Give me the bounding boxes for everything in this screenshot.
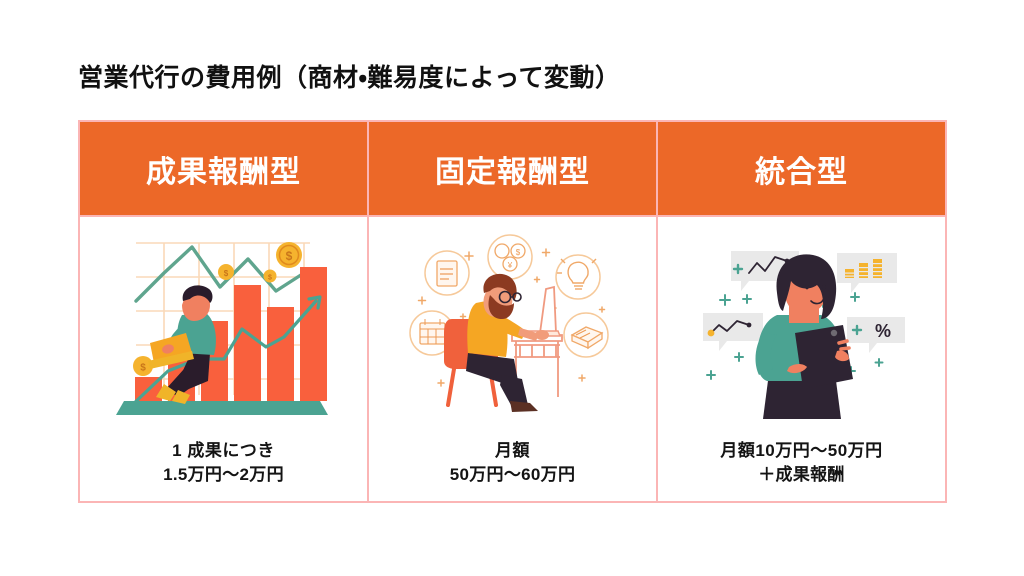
svg-text:$: $ bbox=[223, 269, 228, 278]
svg-text:¥: ¥ bbox=[506, 261, 512, 270]
coin-icon: $ bbox=[263, 270, 276, 283]
price-line-primary: 月額 bbox=[450, 439, 576, 463]
page-title: 営業代行の費用例（商材・難易度によって変動） bbox=[78, 63, 621, 93]
price-block: 1 成果につき 1.5万円〜2万円 bbox=[163, 439, 284, 487]
table-header-label: 固定報酬型 bbox=[435, 147, 590, 191]
price-block: 月額 50万円〜60万円 bbox=[450, 439, 576, 487]
trend-bubble-icon bbox=[703, 313, 763, 351]
percent-bubble-icon: % bbox=[847, 317, 905, 353]
price-line-primary: 1 成果につき bbox=[163, 439, 284, 463]
price-line-secondary: 50万円〜60万円 bbox=[450, 463, 576, 487]
table-cell-performance: $ $ $ $ bbox=[80, 217, 367, 501]
table-header-cell-integrated: 統合型 bbox=[656, 122, 945, 215]
slide-canvas: 営業代行の費用例（商材・難易度によって変動） 成果報酬型 固定報酬型 統合型 bbox=[0, 0, 1024, 576]
table-body-row: $ $ $ $ bbox=[80, 217, 945, 501]
price-line-secondary: 1.5万円〜2万円 bbox=[163, 463, 284, 487]
table-header-row: 成果報酬型 固定報酬型 統合型 bbox=[80, 122, 945, 217]
svg-text:$: $ bbox=[140, 363, 146, 374]
bar-bubble-icon bbox=[837, 253, 897, 293]
svg-text:%: % bbox=[874, 321, 890, 341]
table-header-cell-fixed: 固定報酬型 bbox=[367, 122, 656, 215]
cost-comparison-table: 成果報酬型 固定報酬型 統合型 bbox=[78, 120, 947, 503]
price-block: 月額10万円〜50万円 ＋成果報酬 bbox=[720, 439, 882, 487]
price-line-secondary: ＋成果報酬 bbox=[720, 463, 882, 487]
svg-text:$: $ bbox=[285, 249, 292, 263]
coin-icon: $ bbox=[276, 242, 302, 268]
illustration-woman-with-tablet: % bbox=[664, 227, 939, 427]
illustration-bearded-man-at-desk: $ ¥ bbox=[375, 227, 650, 427]
illustration-man-with-laptop-on-bar-chart: $ $ $ $ bbox=[86, 227, 361, 427]
table-header-label: 成果報酬型 bbox=[146, 147, 301, 191]
table-cell-fixed: $ ¥ bbox=[367, 217, 656, 501]
table-header-label: 統合型 bbox=[755, 147, 848, 191]
table-cell-integrated: % bbox=[656, 217, 945, 501]
coin-icon: $ bbox=[218, 264, 234, 280]
svg-text:$: $ bbox=[268, 275, 272, 282]
table-header-cell-performance: 成果報酬型 bbox=[80, 122, 367, 215]
svg-text:$: $ bbox=[515, 248, 520, 257]
price-line-primary: 月額10万円〜50万円 bbox=[720, 439, 882, 463]
